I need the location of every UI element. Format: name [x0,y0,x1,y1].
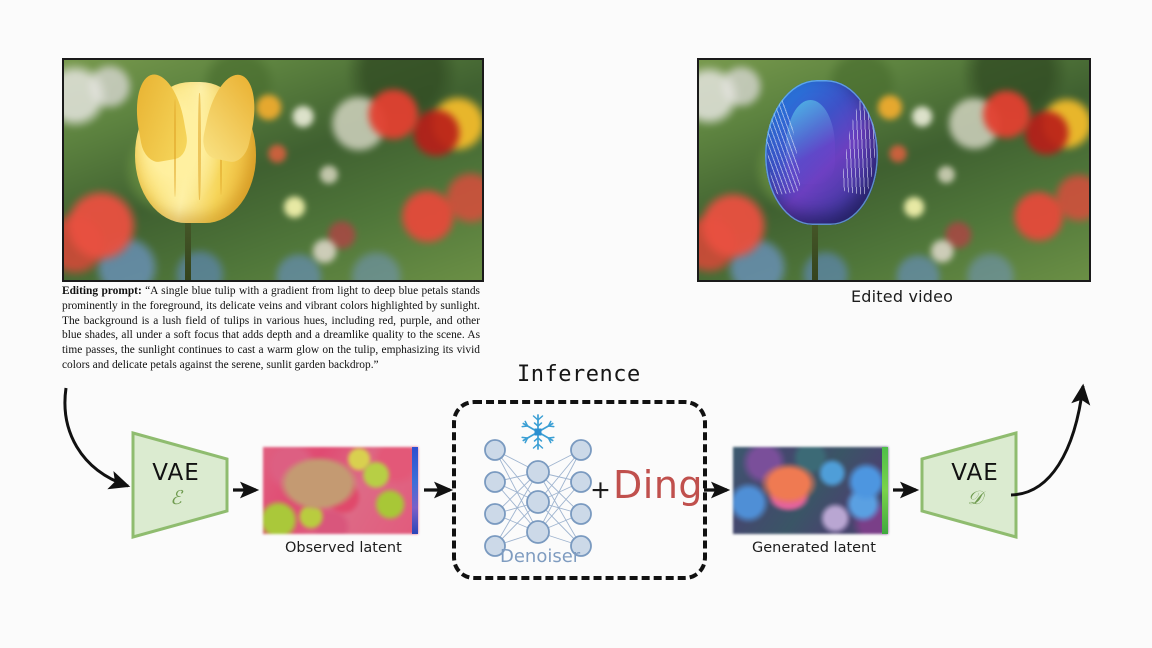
editing-prompt-block: Editing prompt: “A single blue tulip wit… [62,284,480,373]
garden-bokeh-background [699,60,1089,280]
observed-latent-edge [412,447,418,534]
method-name-ding: Ding [613,463,703,507]
observed-latent-image [263,447,418,534]
edited-video-image [699,60,1089,280]
figure-root: Edited video Editing prompt: “A single b… [0,0,1152,648]
observed-latent-label: Observed latent [285,540,402,556]
source-video-frame [62,58,484,282]
edited-video-frame [697,58,1091,282]
arrow-decoder-to-edited-video [1011,386,1083,495]
generated-latent-edge [882,447,888,534]
vae-decoder-title: VAE [951,462,999,485]
editing-prompt-label: Editing prompt: [62,285,142,297]
editing-prompt-text: “A single blue tulip with a gradient fro… [62,285,480,371]
blue-tulip [765,80,878,225]
vae-decoder: VAE 𝒟 [920,431,1018,539]
arrow-prompt-to-encoder [65,388,128,486]
tulip-rim [765,80,878,225]
garden-bokeh-background [64,60,482,280]
vae-decoder-subtitle: 𝒟 [951,489,999,508]
generated-latent-label: Generated latent [752,540,876,556]
vae-encoder: VAE ℰ [131,431,229,539]
vae-encoder-title: VAE [152,462,200,485]
source-video-image [64,60,482,280]
edited-video-caption: Edited video [851,287,953,306]
yellow-tulip [135,82,256,223]
denoiser-label: Denoiser [500,546,580,567]
snowflake-icon [517,411,559,453]
generated-latent-image [733,447,888,534]
inference-title: Inference [517,362,641,387]
plus-sign: + [590,475,611,504]
vae-encoder-subtitle: ℰ [152,489,200,508]
